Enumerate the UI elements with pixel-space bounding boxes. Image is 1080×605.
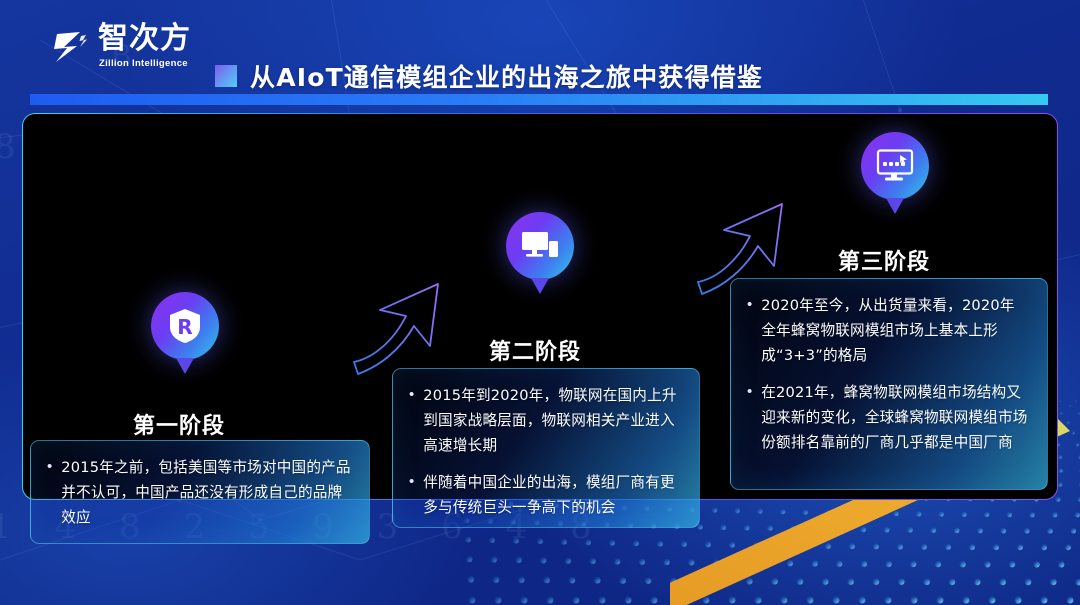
bullet-marker: • (747, 380, 752, 455)
stage-1-bullet-list: • 2015年之前，包括美国等市场对中国的产品并不认可，中国产品还没有形成自己的… (31, 441, 369, 542)
list-item: • 伴随着中国企业的出海，模组厂商有更多与传统巨头一争高下的机会 (409, 470, 681, 520)
stage-2-icon-node[interactable] (506, 212, 574, 280)
icon-stem-pointer (886, 198, 904, 214)
zillion-z-logo-icon (50, 26, 92, 68)
page-title: 从AIoT通信模组企业的出海之旅中获得借鉴 (215, 58, 763, 94)
bullet-marker: • (409, 470, 414, 520)
logo-chinese-name: 智次方 (98, 22, 191, 56)
stage-3-card: • 2020年至今，从出货量来看，2020年全年蜂窝物联网模组市场上基本上形成“… (730, 278, 1048, 490)
monitor-phone-icon (506, 212, 574, 280)
stage-3-icon-node[interactable] (861, 132, 929, 200)
bullet-marker: • (747, 293, 752, 368)
stage-3-title: 第三阶段 (838, 244, 930, 276)
list-item: • 2015年之前，包括美国等市场对中国的产品并不认可，中国产品还没有形成自己的… (47, 455, 351, 530)
svg-text:R: R (177, 315, 192, 339)
icon-stem-pointer (176, 358, 194, 374)
stage-3-bullet-list: • 2020年至今，从出货量来看，2020年全年蜂窝物联网模组市场上基本上形成“… (731, 279, 1047, 467)
bullet-text: 伴随着中国企业的出海，模组厂商有更多与传统巨头一争高下的机会 (423, 470, 681, 520)
title-underline-bar (30, 94, 1048, 105)
stage-1-title: 第一阶段 (133, 408, 225, 440)
monitor-login-icon (861, 132, 929, 200)
stage-1-card: • 2015年之前，包括美国等市场对中国的产品并不认可，中国产品还没有形成自己的… (30, 440, 370, 544)
stage-2-bullet-list: • 2015年到2020年，物联网在国内上升到国家战略层面，物联网相关产业进入高… (393, 369, 699, 532)
bullet-text: 2015年到2020年，物联网在国内上升到国家战略层面，物联网相关产业进入高速增… (423, 383, 681, 458)
stage-2-card: • 2015年到2020年，物联网在国内上升到国家战略层面，物联网相关产业进入高… (392, 368, 700, 528)
stage-2-title: 第二阶段 (489, 334, 581, 366)
bullet-marker: • (409, 383, 414, 458)
bullet-text: 2020年至今，从出货量来看，2020年全年蜂窝物联网模组市场上基本上形成“3+… (761, 293, 1029, 368)
list-item: • 2015年到2020年，物联网在国内上升到国家战略层面，物联网相关产业进入高… (409, 383, 681, 458)
icon-stem-pointer (531, 278, 549, 294)
list-item: • 2020年至今，从出货量来看，2020年全年蜂窝物联网模组市场上基本上形成“… (747, 293, 1029, 368)
list-item: • 在2021年，蜂窝物联网模组市场结构又迎来新的变化，全球蜂窝物联网模组市场份… (747, 380, 1029, 455)
title-square-icon (215, 65, 237, 87)
bullet-marker: • (47, 455, 52, 530)
shield-r-icon: R (151, 292, 219, 360)
brand-logo[interactable]: 智次方 Zillion Intelligence (50, 22, 200, 80)
slide-canvas: 8 B 1 D 1 4 8 2 5 9 3 6 4 8 B A B C 8 D (0, 0, 1080, 605)
bullet-text: 在2021年，蜂窝物联网模组市场结构又迎来新的变化，全球蜂窝物联网模组市场份额排… (761, 380, 1029, 455)
bullet-text: 2015年之前，包括美国等市场对中国的产品并不认可，中国产品还没有形成自己的品牌… (61, 455, 351, 530)
page-title-text: 从AIoT通信模组企业的出海之旅中获得借鉴 (250, 58, 763, 94)
stage-1-icon-node[interactable]: R (151, 292, 219, 360)
logo-english-name: Zillion Intelligence (99, 58, 188, 69)
